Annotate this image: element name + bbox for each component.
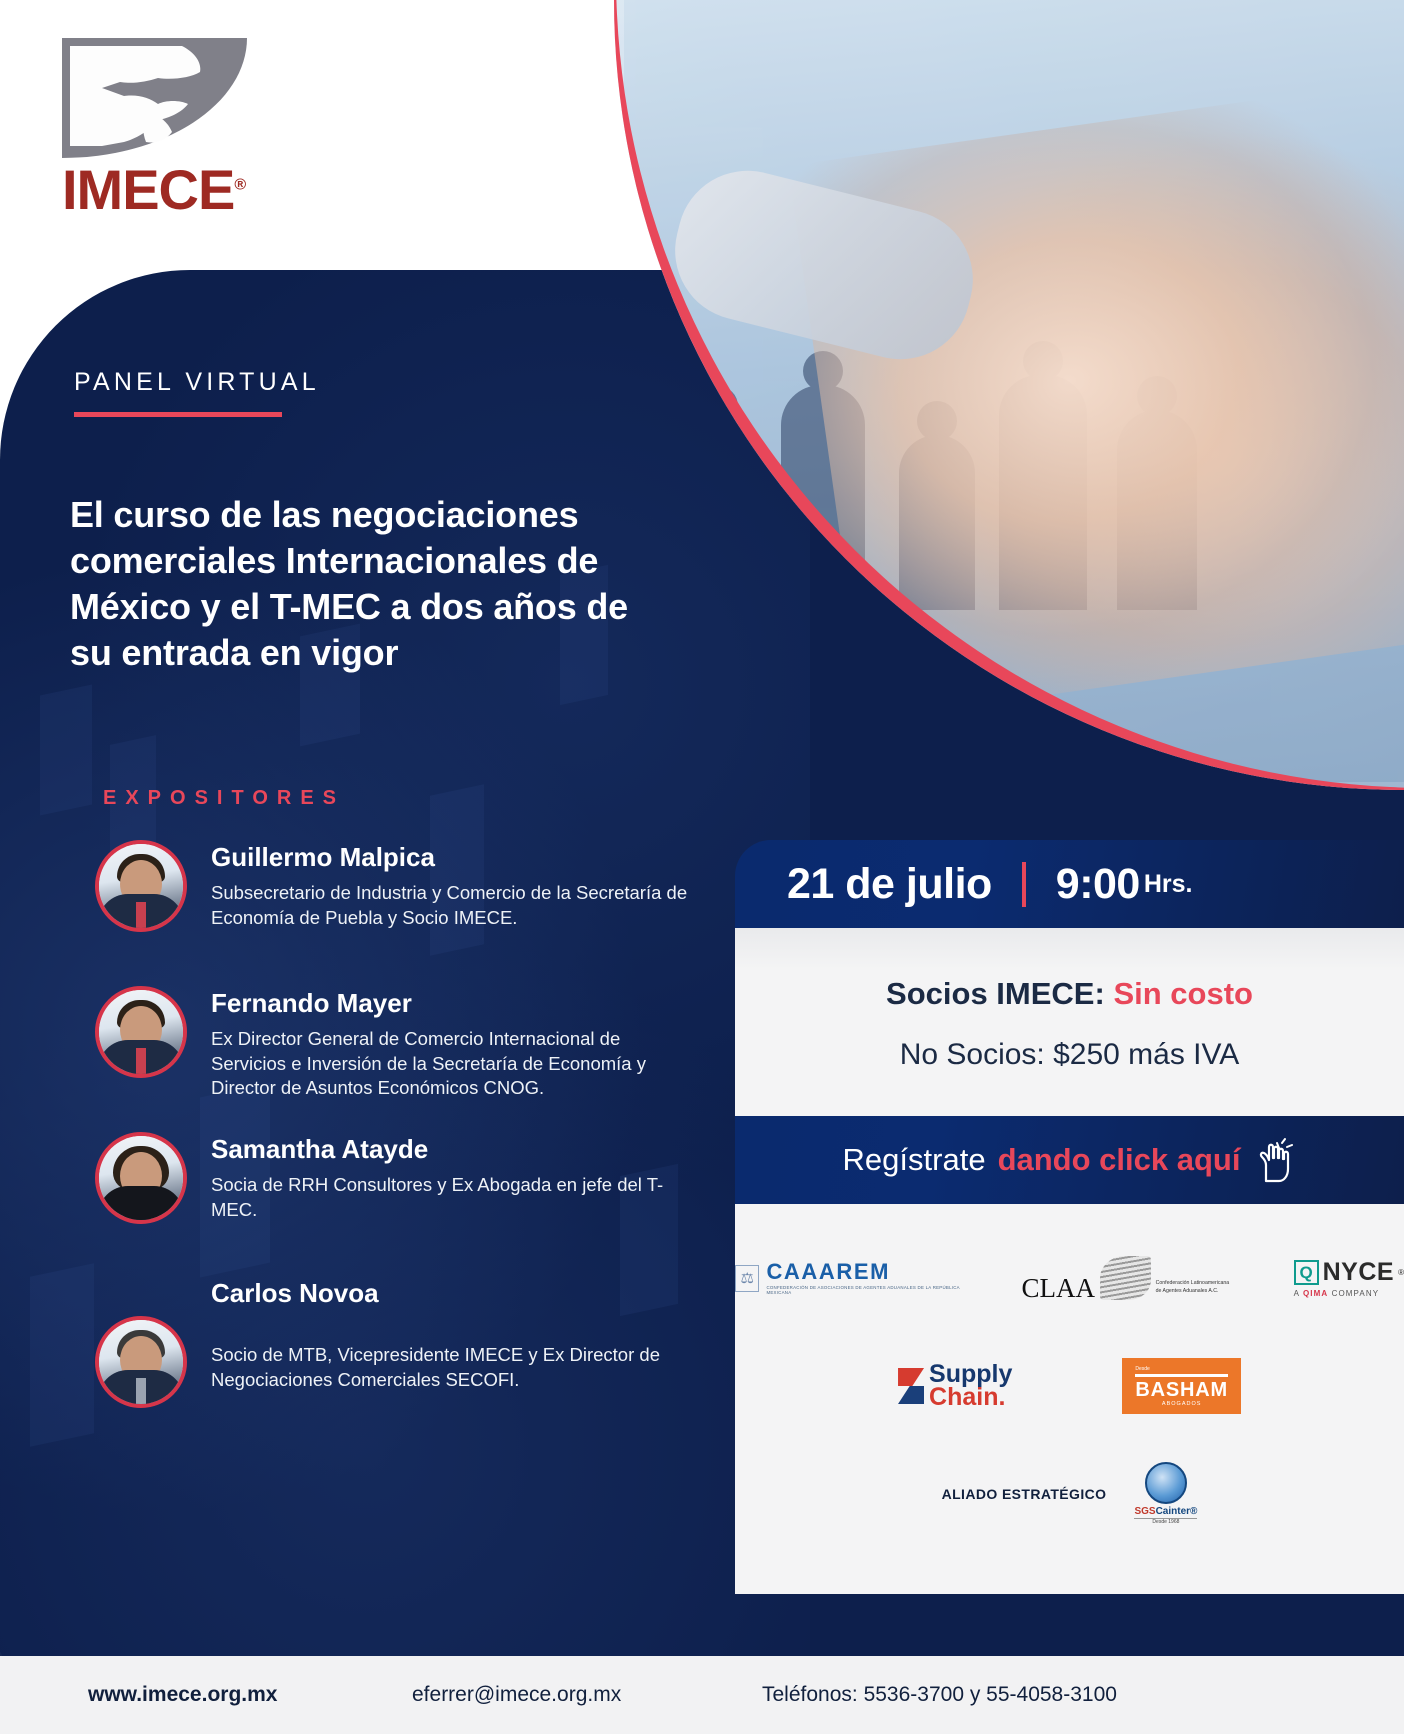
footer-bar: www.imece.org.mx eferrer@imece.org.mx Te… bbox=[0, 1656, 1404, 1734]
nyce-wordmark: NYCE bbox=[1323, 1258, 1394, 1287]
cta-plain-text: Regístrate bbox=[843, 1142, 986, 1178]
pricing-panel: Socios IMECE: Sin costo No Socios: $250 … bbox=[735, 928, 1404, 1116]
cainter-wordmark: SGSCainter® bbox=[1134, 1506, 1197, 1517]
scales-balance-icon bbox=[735, 1265, 759, 1292]
sponsor-logo-basham: Desde BASHAM ABOGADOS bbox=[1122, 1358, 1241, 1414]
list-item: Samantha Atayde Socia de RRH Consultores… bbox=[95, 1132, 695, 1260]
cta-link-text[interactable]: dando click aquí bbox=[998, 1142, 1241, 1178]
avatar bbox=[95, 840, 187, 932]
speaker-role: Socia de RRH Consultores y Ex Abogada en… bbox=[211, 1173, 695, 1222]
logo-word: IMECE bbox=[62, 158, 234, 221]
nyce-tagline-brand: QIMA bbox=[1303, 1289, 1328, 1298]
imece-logo: IMECE® bbox=[62, 38, 302, 218]
logo-wordmark: IMECE® bbox=[62, 162, 302, 218]
sponsor-logo-nyce: Q NYCE ® A QIMA COMPANY bbox=[1294, 1258, 1404, 1298]
speaker-role: Subsecretario de Industria y Comercio de… bbox=[211, 881, 695, 930]
speaker-role: Socio de MTB, Vicepresidente IMECE y Ex … bbox=[211, 1343, 695, 1392]
date-time-banner: 21 de julio 9:00 Hrs. bbox=[735, 840, 1404, 928]
speakers-section-label: EXPOSITORES bbox=[103, 787, 345, 810]
sponsor-logo-caaarem: CAAAREM CONFEDERACIÓN DE ASOCIACIONES DE… bbox=[735, 1261, 964, 1295]
list-item: Guillermo Malpica Subsecretario de Indus… bbox=[95, 840, 695, 968]
sponsor-row-2: Supply Chain. Desde BASHAM ABOGADOS bbox=[735, 1358, 1404, 1414]
cainter-name: Cainter bbox=[1156, 1506, 1190, 1517]
members-price-row: Socios IMECE: Sin costo bbox=[735, 976, 1404, 1012]
avatar bbox=[95, 986, 187, 1078]
nyce-registered-icon: ® bbox=[1398, 1268, 1404, 1277]
speaker-name: Samantha Atayde bbox=[211, 1134, 695, 1165]
speakers-list: Guillermo Malpica Subsecretario de Indus… bbox=[95, 840, 695, 1424]
hand-click-icon bbox=[1252, 1137, 1296, 1183]
registered-mark-icon: ® bbox=[234, 176, 245, 193]
hero-handshake-image bbox=[614, 0, 1404, 790]
nyce-tagline-suffix: COMPANY bbox=[1328, 1289, 1379, 1298]
speaker-name: Fernando Mayer bbox=[211, 988, 695, 1019]
sponsor-logo-supply-chain: Supply Chain. bbox=[898, 1363, 1012, 1409]
members-label: Socios IMECE: bbox=[886, 976, 1105, 1011]
footer-website[interactable]: www.imece.org.mx bbox=[88, 1683, 277, 1707]
kicker-underline bbox=[74, 412, 282, 417]
event-info-column: 21 de julio 9:00 Hrs. Socios IMECE: Sin … bbox=[735, 840, 1404, 1594]
basham-divider bbox=[1135, 1374, 1228, 1377]
cainter-globe-icon bbox=[1145, 1462, 1187, 1504]
nyce-q-icon: Q bbox=[1294, 1260, 1319, 1285]
cainter-since: Desde 1968 bbox=[1134, 1518, 1197, 1525]
page-title: El curso de las negociaciones comerciale… bbox=[70, 492, 630, 676]
supply-chain-dot: . bbox=[998, 1383, 1005, 1411]
speaker-role: Ex Director General de Comercio Internac… bbox=[211, 1027, 695, 1101]
globe-quarter-icon bbox=[62, 38, 247, 158]
list-item: Carlos Novoa Socio de MTB, Vicepresident… bbox=[95, 1278, 695, 1406]
sponsors-panel: CAAAREM CONFEDERACIÓN DE ASOCIACIONES DE… bbox=[735, 1204, 1404, 1594]
sponsor-row-1: CAAAREM CONFEDERACIÓN DE ASOCIACIONES DE… bbox=[735, 1256, 1404, 1300]
claa-wordmark: CLAA bbox=[1022, 1277, 1096, 1300]
sponsor-logo-claa: CLAA Confederación Latinoamericana de Ag… bbox=[1022, 1256, 1236, 1300]
footer-email[interactable]: eferrer@imece.org.mx bbox=[412, 1683, 621, 1707]
event-time: 9:00 bbox=[1056, 860, 1140, 909]
supply-chain-arrow-icon bbox=[898, 1368, 924, 1404]
supply-chain-line2: Chain. bbox=[929, 1386, 1012, 1409]
avatar bbox=[95, 1316, 187, 1408]
basham-tiny-text: Desde bbox=[1135, 1367, 1228, 1372]
list-item: Fernando Mayer Ex Director General de Co… bbox=[95, 986, 695, 1114]
kicker-block: PANEL VIRTUAL bbox=[74, 368, 320, 417]
nonmembers-price: No Socios: $250 más IVA bbox=[735, 1038, 1404, 1072]
cainter-prefix: SGS bbox=[1134, 1506, 1155, 1517]
cainter-registered-icon: ® bbox=[1190, 1506, 1197, 1517]
event-time-unit: Hrs. bbox=[1144, 870, 1193, 899]
speaker-name: Guillermo Malpica bbox=[211, 842, 695, 873]
register-button[interactable]: Regístrate dando click aquí bbox=[735, 1116, 1404, 1204]
caaarem-wordmark: CAAAREM bbox=[766, 1261, 963, 1283]
date-time-divider bbox=[1022, 862, 1026, 907]
speaker-name: Carlos Novoa bbox=[211, 1278, 695, 1309]
nyce-tagline: A QIMA COMPANY bbox=[1294, 1289, 1404, 1298]
basham-wordmark: BASHAM bbox=[1135, 1380, 1228, 1400]
supply-chain-line2-word: Chain bbox=[929, 1383, 998, 1411]
basham-subtitle: ABOGADOS bbox=[1135, 1401, 1228, 1407]
caaarem-subtitle: CONFEDERACIÓN DE ASOCIACIONES DE AGENTES… bbox=[766, 1286, 963, 1295]
kicker-label: PANEL VIRTUAL bbox=[74, 368, 320, 397]
avatar bbox=[95, 1132, 187, 1224]
sponsor-logo-cainter: SGSCainter® Desde 1968 bbox=[1134, 1462, 1197, 1525]
strategic-partner-label: ALIADO ESTRATÉGICO bbox=[942, 1486, 1107, 1502]
event-date: 21 de julio bbox=[787, 860, 992, 909]
claa-subtitle: Confederación Latinoamericana de Agentes… bbox=[1156, 1280, 1236, 1300]
nyce-tagline-prefix: A bbox=[1294, 1289, 1303, 1298]
claa-wave-icon bbox=[1100, 1256, 1151, 1300]
footer-phones: Teléfonos: 5536-3700 y 55-4058-3100 bbox=[762, 1683, 1117, 1707]
sponsor-row-3: ALIADO ESTRATÉGICO SGSCainter® Desde 196… bbox=[735, 1462, 1404, 1525]
members-price-value: Sin costo bbox=[1113, 976, 1253, 1011]
